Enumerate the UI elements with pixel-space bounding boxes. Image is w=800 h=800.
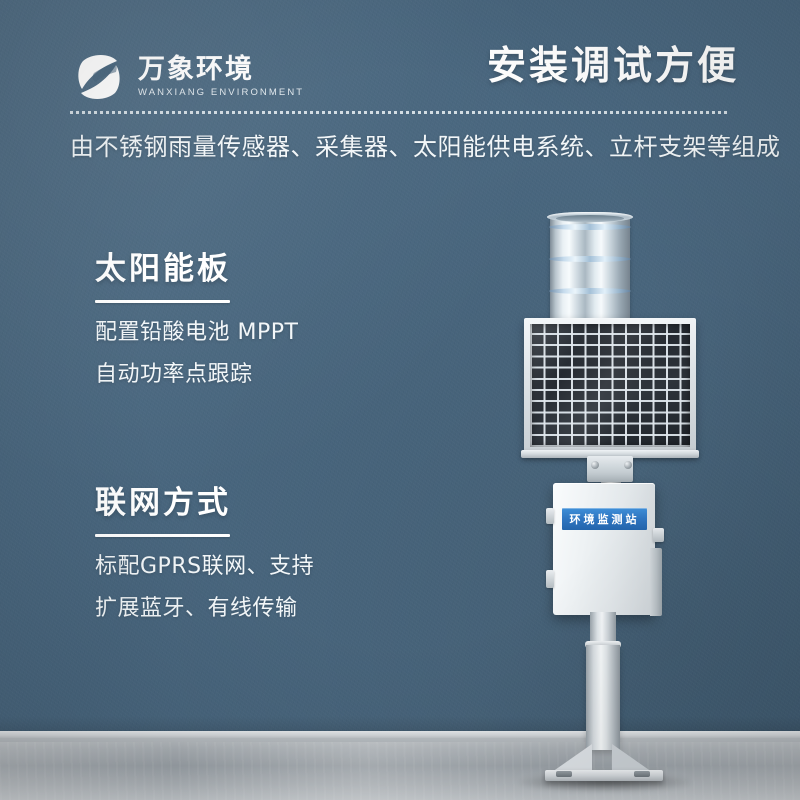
feature-line: 标配GPRS联网、支持 — [95, 555, 314, 579]
wall-floor-shadow — [0, 716, 800, 732]
dotted-divider — [70, 111, 730, 114]
rain-gauge-band — [549, 256, 631, 262]
feature-line: 自动功率点跟踪 — [95, 363, 298, 387]
brand-logo: 万象环境 WANXIANG ENVIRONMENT — [70, 48, 304, 106]
pole-collar — [585, 641, 621, 648]
brand-name-en: WANXIANG ENVIRONMENT — [138, 88, 304, 98]
feature-network-mode: 联网方式 标配GPRS联网、支持 扩展蓝牙、有线传输 — [95, 486, 314, 621]
vignette — [0, 0, 800, 800]
rain-gauge-band — [549, 318, 631, 324]
rain-gauge-band — [549, 288, 631, 294]
feature-line: 扩展蓝牙、有线传输 — [95, 597, 314, 621]
panel-bracket — [587, 456, 633, 482]
rain-gauge-band — [549, 224, 631, 230]
feature-rule — [95, 534, 230, 537]
feature-heading: 太阳能板 — [95, 252, 298, 286]
wall-texture — [0, 0, 800, 800]
wanxiang-swirl-logo-icon — [70, 48, 128, 106]
pole-upper-section — [590, 612, 616, 650]
rain-gauge-base — [543, 325, 637, 334]
bracket-bolt — [591, 461, 599, 469]
rain-gauge-funnel — [556, 215, 624, 222]
solar-panel-cells — [530, 324, 690, 447]
bracket-bolt — [624, 461, 632, 469]
rain-gauge-body — [550, 216, 630, 331]
enclosure-latch — [546, 508, 554, 524]
page-title: 安装调试方便 — [487, 47, 739, 88]
rain-gauge-rim — [547, 212, 633, 222]
feature-solar-panel: 太阳能板 配置铅酸电池 MPPT 自动功率点跟踪 — [95, 252, 298, 387]
feature-rule — [95, 300, 230, 303]
solar-panel-glare — [530, 322, 690, 448]
page-subtitle: 由不锈钢雨量传感器、采集器、太阳能供电系统、立杆支架等组成 — [70, 133, 781, 162]
enclosure-box — [553, 483, 655, 615]
product-banner: 万象环境 WANXIANG ENVIRONMENT 安装调试方便 由不锈钢雨量传… — [0, 0, 800, 800]
enclosure-latch — [546, 570, 554, 588]
monitoring-station-device: 环境监测站 — [0, 0, 800, 800]
solar-panel-rail — [521, 450, 699, 458]
enclosure-side-panel — [650, 548, 662, 616]
solar-panel-frame — [524, 318, 696, 453]
feature-line: 配置铅酸电池 MPPT — [95, 321, 298, 345]
enclosure-label: 环境监测站 — [562, 508, 647, 530]
panel-mast — [601, 456, 621, 490]
brand-name-cn: 万象环境 — [138, 56, 304, 83]
enclosure-latch — [653, 528, 664, 542]
feature-heading: 联网方式 — [95, 486, 314, 520]
floor — [0, 738, 800, 800]
enclosure-label-text: 环境监测站 — [570, 514, 640, 525]
rain-gauge-neck — [570, 331, 610, 339]
